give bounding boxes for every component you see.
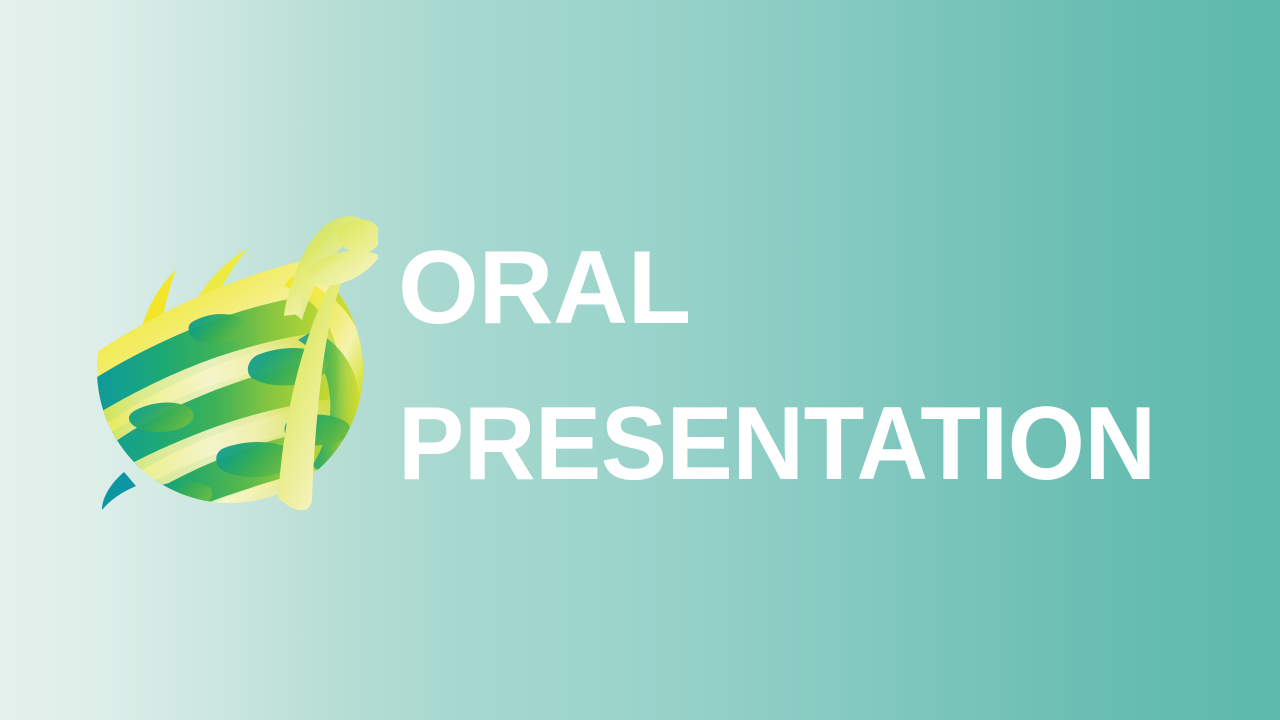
- title-block: ORAL PRESENTATION: [398, 236, 1198, 496]
- page-title-line-2: PRESENTATION: [398, 392, 1162, 496]
- presentation-slide: ORAL PRESENTATION: [0, 0, 1280, 720]
- globe-ribbon-logo: [96, 204, 378, 522]
- globe-ribbons: [96, 216, 378, 522]
- page-title-line-1: ORAL: [398, 236, 1198, 340]
